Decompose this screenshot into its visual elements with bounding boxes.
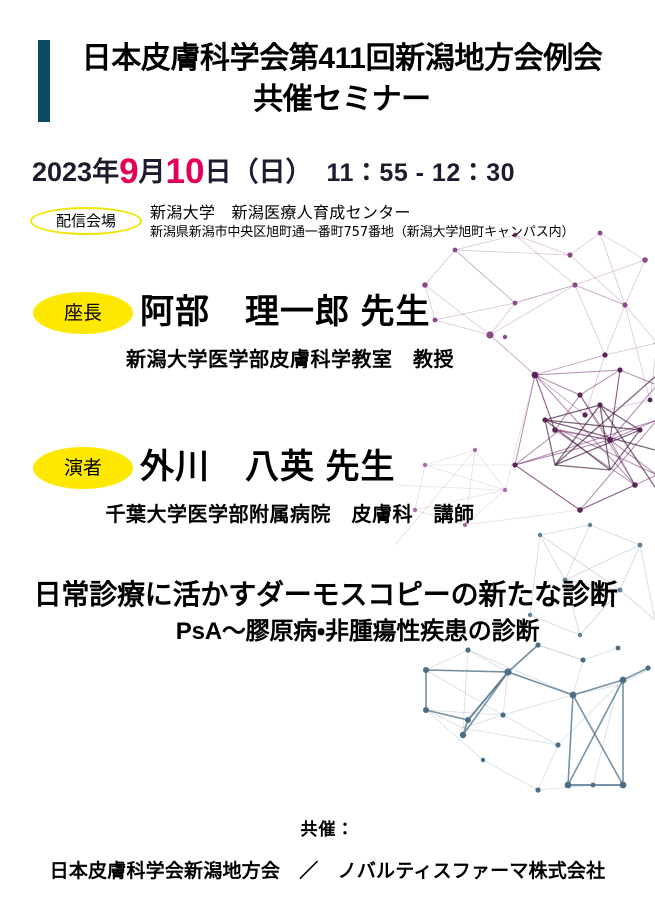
schedule-year: 2023年 [32, 157, 119, 187]
chairperson-role-label: 座長 [33, 292, 133, 334]
lecture-title-main: 日常診療に活かすダーモスコピーの新たな診断 [0, 576, 621, 614]
footer-cohost-label: 共催： [0, 818, 655, 842]
footer-organizers: 日本皮膚科学会新潟地方会 ／ ノバルティスファーマ株式会社 [0, 859, 655, 885]
schedule-day-number: 10 [166, 152, 205, 191]
venue-badge: 配信会場 [30, 207, 142, 235]
speaker-affiliation: 千葉大学医学部附属病院 皮膚科 講師 [0, 501, 580, 529]
chairperson-name: 阿部 理一郎 先生 [140, 288, 430, 336]
schedule-month-unit: 月 [139, 157, 166, 187]
speaker-role-label: 演者 [33, 447, 133, 489]
venue-badge-label: 配信会場 [32, 209, 140, 233]
chairperson-affiliation: 新潟大学医学部皮膚科学教室 教授 [0, 346, 580, 374]
venue-block: 配信会場 新潟大学 新潟医療人育成センター 新潟県新潟市中央区旭町通一番町757… [30, 203, 655, 249]
schedule-month-number: 9 [119, 152, 138, 191]
title-accent-bar [38, 40, 50, 122]
lecture-title-block: 日常診療に活かすダーモスコピーの新たな診断 PsA〜膠原病・非腫瘍性疾患の診断 [0, 576, 655, 650]
schedule-line: 2023年9月10日（日）11：55 - 12：30 [32, 155, 515, 190]
schedule-time: 11：55 - 12：30 [326, 159, 515, 187]
footer-block: 共催： 日本皮膚科学会新潟地方会 ／ ノバルティスファーマ株式会社 [0, 818, 655, 885]
speaker-name: 外川 八英 先生 [140, 443, 395, 491]
venue-address: 新潟県新潟市中央区旭町通一番町757番地（新潟大学旭町キャンパス内） [150, 223, 655, 242]
schedule-weekday: （日） [231, 157, 312, 187]
speaker-role-badge: 演者 [33, 447, 133, 489]
schedule-day-unit: 日 [204, 157, 231, 187]
title-line-2: 共催セミナー [62, 79, 622, 120]
venue-text: 新潟大学 新潟医療人育成センター 新潟県新潟市中央区旭町通一番町757番地（新潟… [150, 203, 655, 242]
lecture-title-sub: PsA〜膠原病・非腫瘍性疾患の診断 [0, 614, 635, 650]
seminar-title-block: 日本皮膚科学会第411回新潟地方会例会 共催セミナー [0, 38, 655, 126]
venue-name: 新潟大学 新潟医療人育成センター [150, 203, 655, 223]
title-line-1: 日本皮膚科学会第411回新潟地方会例会 [82, 42, 603, 75]
chairperson-role-badge: 座長 [33, 292, 133, 334]
flyer-page: 日本皮膚科学会第411回新潟地方会例会 共催セミナー 2023年9月10日（日）… [0, 0, 655, 906]
page-title: 日本皮膚科学会第411回新潟地方会例会 共催セミナー [62, 38, 622, 120]
network-graph-blue-icon [408, 640, 655, 825]
